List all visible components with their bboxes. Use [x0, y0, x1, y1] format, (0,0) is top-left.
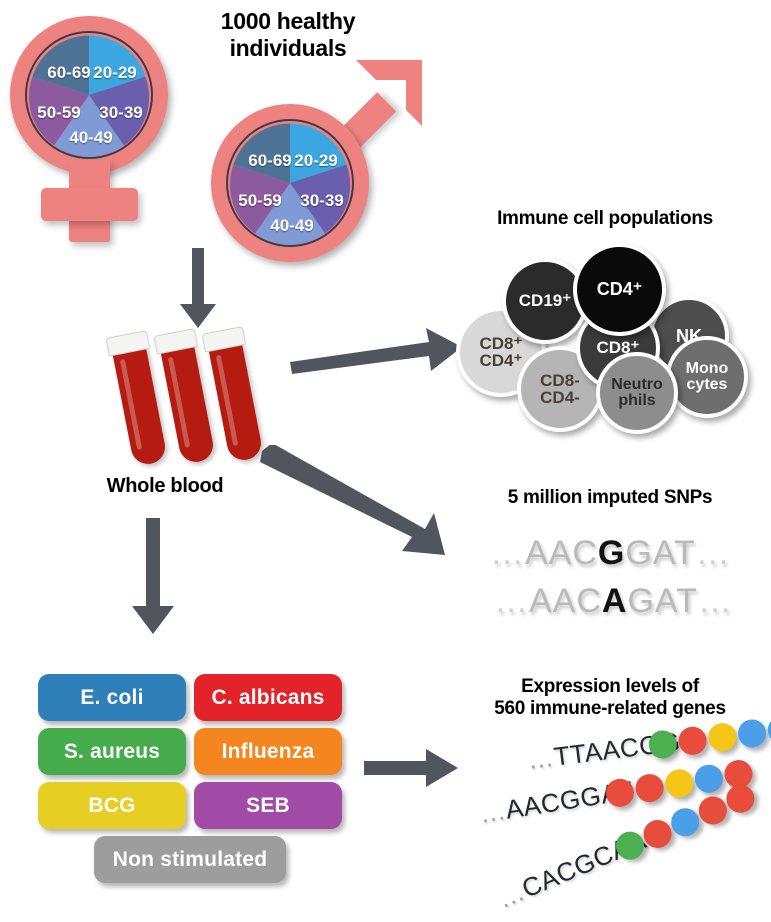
- male-symbol-arrowhead: [348, 52, 430, 134]
- snp-variant-base: A: [602, 582, 628, 620]
- whole-blood-tubes: [110, 345, 280, 485]
- snp-lead-ellipsis: …: [494, 582, 529, 620]
- female-pie-label-20-29: 20-29: [93, 63, 136, 83]
- tube-body: [160, 343, 216, 465]
- dna-dot: [707, 722, 738, 753]
- tube-gloss: [216, 355, 238, 446]
- dna-strands: …TTAACGG …AACGGAT …CACGCAA: [462, 735, 771, 915]
- dna-lead-ellipsis: …: [526, 742, 556, 775]
- dna-dot: [634, 772, 666, 804]
- figure-canvas: 1000 healthy individuals 20-29 30-39 40-…: [0, 0, 771, 922]
- stimulus-c-albicans[interactable]: C. albicans: [194, 674, 342, 721]
- snp-trail-ellipsis: …: [698, 582, 733, 620]
- tube-body: [112, 345, 168, 467]
- stimulus-influenza[interactable]: Influenza: [194, 728, 342, 775]
- arrow-blood-to-snp: [258, 445, 453, 555]
- stimulus-seb[interactable]: SEB: [194, 782, 342, 829]
- female-symbol-crossbar: [41, 188, 138, 221]
- male-pie-label-50-59: 50-59: [238, 191, 281, 211]
- snp-sequences: …AACGGAT… …AACAGAT…: [490, 534, 750, 624]
- snp-lead-ellipsis: …: [490, 534, 525, 572]
- male-pie-label-30-39: 30-39: [300, 191, 343, 211]
- dna-dot: [693, 763, 725, 795]
- snp-sequence-row: …AACAGAT…: [494, 582, 733, 621]
- immune-panel-title: Immune cell populations: [455, 208, 755, 230]
- snp-prefix: AAC: [529, 582, 602, 620]
- female-symbol: 20-29 30-39 40-49 50-59 60-69: [4, 10, 194, 240]
- stimulus-non-stimulated[interactable]: Non stimulated: [94, 836, 286, 883]
- dna-dot: [736, 718, 767, 749]
- whole-blood-label: Whole blood: [70, 475, 260, 499]
- male-symbol: 20-29 30-39 40-49 50-59 60-69: [205, 60, 425, 260]
- stimulus-bcg[interactable]: BCG: [38, 782, 186, 829]
- stimulus-s-aureus[interactable]: S. aureus: [38, 728, 186, 775]
- immune-cell-monocytes: Mono cytes: [666, 336, 748, 418]
- immune-cell-cluster: CD19⁺ CD4⁺ CD8⁺ CD4⁺ CD8⁺ NK CD8- CD4- N…: [455, 240, 755, 420]
- stimuli-panel: E. coli C. albicans S. aureus Influenza …: [38, 674, 338, 894]
- arrow-cohort-to-blood: [178, 248, 218, 330]
- expression-panel-title: Expression levels of 560 immune-related …: [455, 676, 765, 721]
- tube-gloss: [168, 357, 190, 448]
- snp-trail-ellipsis: …: [696, 534, 731, 572]
- stimulus-e-coli[interactable]: E. coli: [38, 674, 186, 721]
- dna-dot: [722, 780, 759, 817]
- snp-suffix: GAT: [625, 534, 695, 572]
- female-pie-label-30-39: 30-39: [99, 103, 142, 123]
- snp-prefix: AAC: [525, 534, 598, 572]
- male-pie-label-60-69: 60-69: [248, 151, 291, 171]
- tube-gloss: [120, 359, 142, 450]
- immune-cell-cd4: CD4⁺: [573, 243, 666, 336]
- male-pie-label-20-29: 20-29: [294, 151, 337, 171]
- female-pie-label-40-49: 40-49: [69, 128, 112, 148]
- dna-dot: [663, 767, 695, 799]
- female-age-pie: 20-29 30-39 40-49 50-59 60-69: [25, 31, 153, 159]
- snp-panel-title: 5 million imputed SNPs: [460, 487, 760, 509]
- female-pie-label-50-59: 50-59: [37, 103, 80, 123]
- snp-variant-base: G: [598, 534, 625, 572]
- arrow-stimuli-to-expression: [364, 748, 460, 788]
- tube-body: [208, 341, 264, 463]
- female-pie-label-60-69: 60-69: [47, 63, 90, 83]
- snp-sequence-row: …AACGGAT…: [490, 534, 731, 573]
- male-age-pie: 20-29 30-39 40-49 50-59 60-69: [226, 119, 354, 247]
- dna-dot: [766, 714, 771, 745]
- arrow-blood-to-immune: [290, 325, 465, 375]
- male-pie-label-40-49: 40-49: [270, 216, 313, 236]
- snp-suffix: GAT: [627, 582, 697, 620]
- arrow-blood-to-stimuli: [130, 518, 178, 636]
- immune-cell-neutrophils: Neutro phils: [596, 352, 678, 434]
